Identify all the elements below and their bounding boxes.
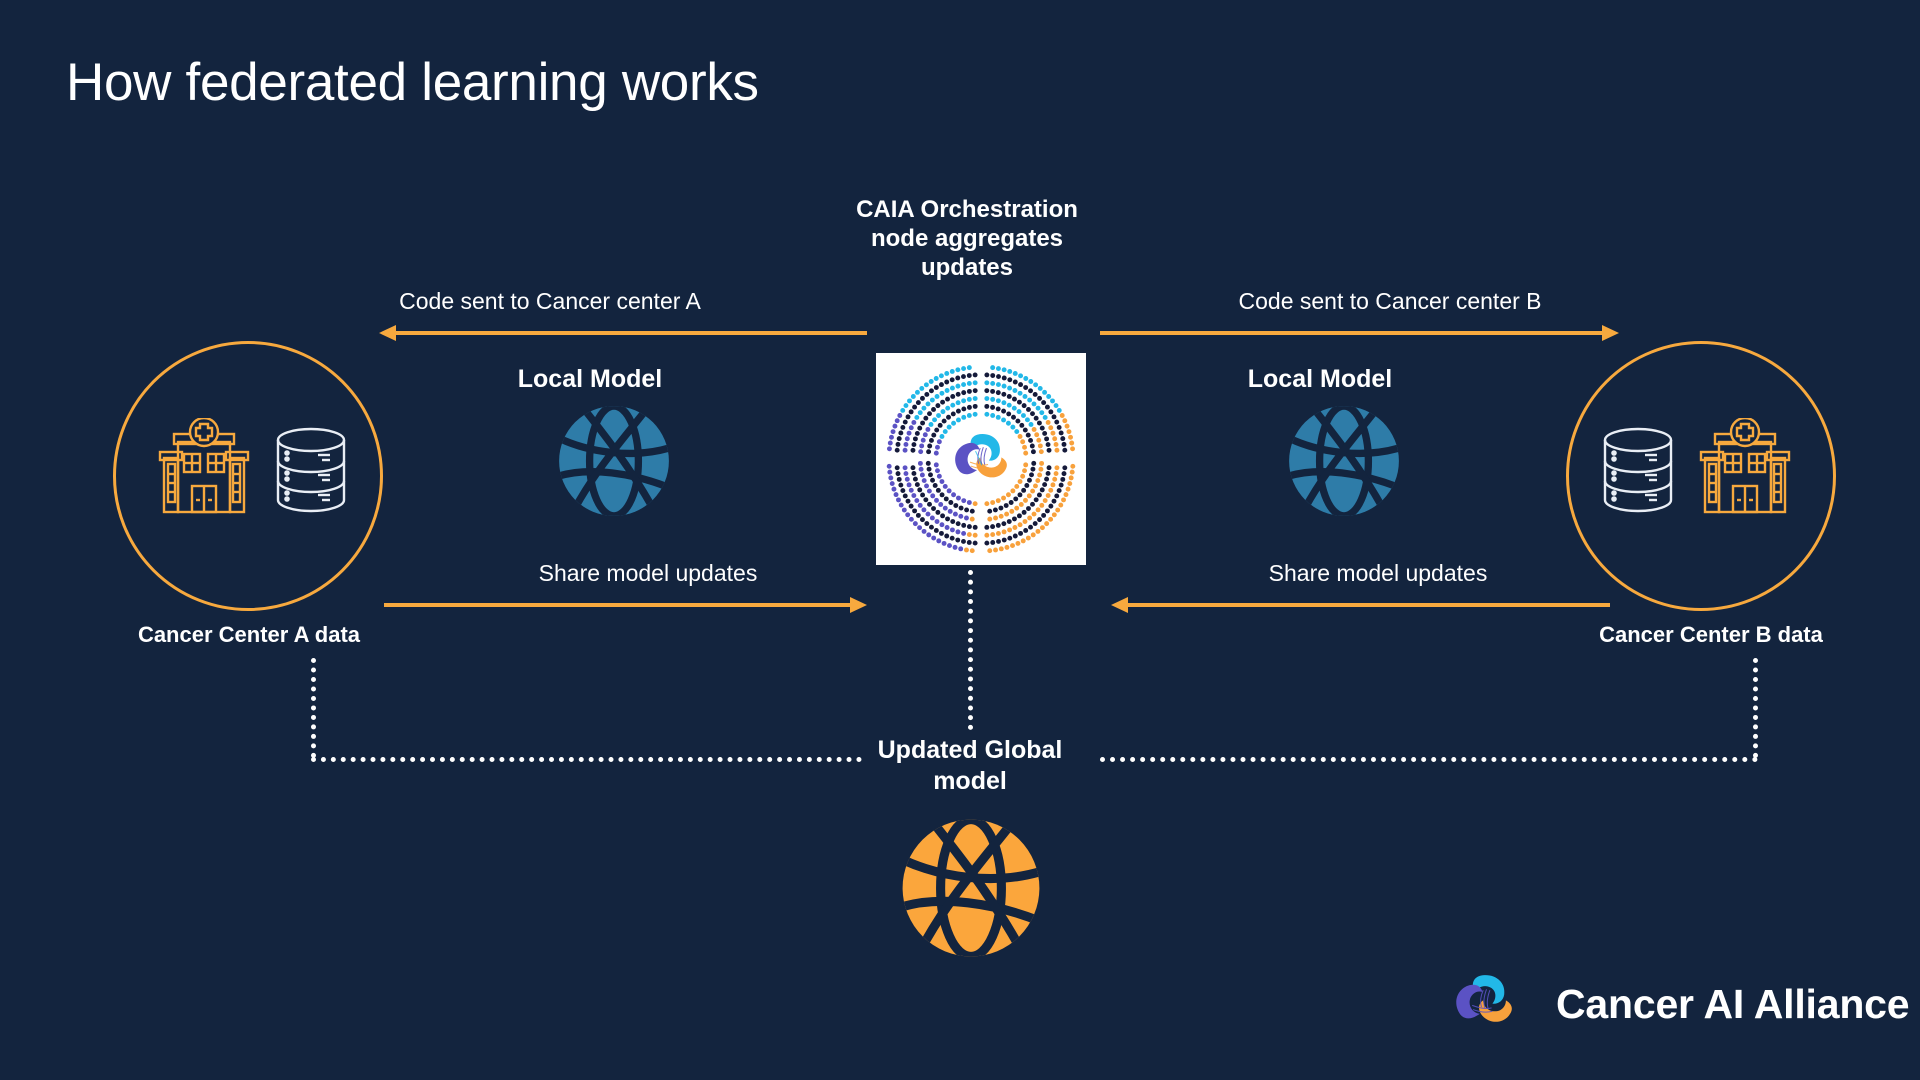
dotted-connector-right-vertical [1753, 658, 1758, 758]
hospital-icon [144, 418, 264, 535]
caia-orchestration-node-logo [876, 353, 1086, 565]
database-icon [1597, 424, 1679, 529]
cancer-center-a-icons [116, 344, 380, 608]
dotted-connector-center-down [968, 570, 973, 730]
cancer-center-a-circle [113, 341, 383, 611]
brand-logo-group: Cancer AI Alliance [1430, 948, 1909, 1061]
cancer-center-b-label: Cancer Center B data [1566, 622, 1856, 648]
hospital-icon [1685, 418, 1805, 535]
share-updates-a-arrow [384, 594, 868, 616]
orchestration-node-heading: CAIA Orchestration node aggregates updat… [852, 196, 1082, 282]
updated-global-model-label: Updated Global model [855, 735, 1085, 798]
local-model-a-label: Local Model [465, 365, 715, 394]
globe-icon [1283, 400, 1405, 527]
globe-icon-global [895, 812, 1047, 969]
dotted-connector-right-horizontal [1100, 757, 1758, 762]
diagram-canvas: How federated learning works CAIA Orches… [0, 0, 1920, 1080]
code-sent-to-a-arrow [378, 322, 868, 344]
local-model-b-label: Local Model [1195, 365, 1445, 394]
database-icon [270, 424, 352, 529]
share-updates-b-arrow [1110, 594, 1610, 616]
code-sent-to-b-label: Code sent to Cancer center B [1140, 288, 1640, 315]
brand-name: Cancer AI Alliance [1556, 981, 1909, 1028]
share-updates-a-label: Share model updates [398, 560, 898, 587]
dotted-connector-left-vertical [311, 658, 316, 758]
page-title: How federated learning works [66, 52, 759, 113]
cancer-center-a-label: Cancer Center A data [104, 622, 394, 648]
code-sent-to-b-arrow [1100, 322, 1620, 344]
dotted-connector-left-horizontal [311, 757, 862, 762]
share-updates-b-label: Share model updates [1128, 560, 1628, 587]
cancer-ai-alliance-hands-logo [1430, 948, 1538, 1061]
globe-icon [553, 400, 675, 527]
code-sent-to-a-label: Code sent to Cancer center A [300, 288, 800, 315]
